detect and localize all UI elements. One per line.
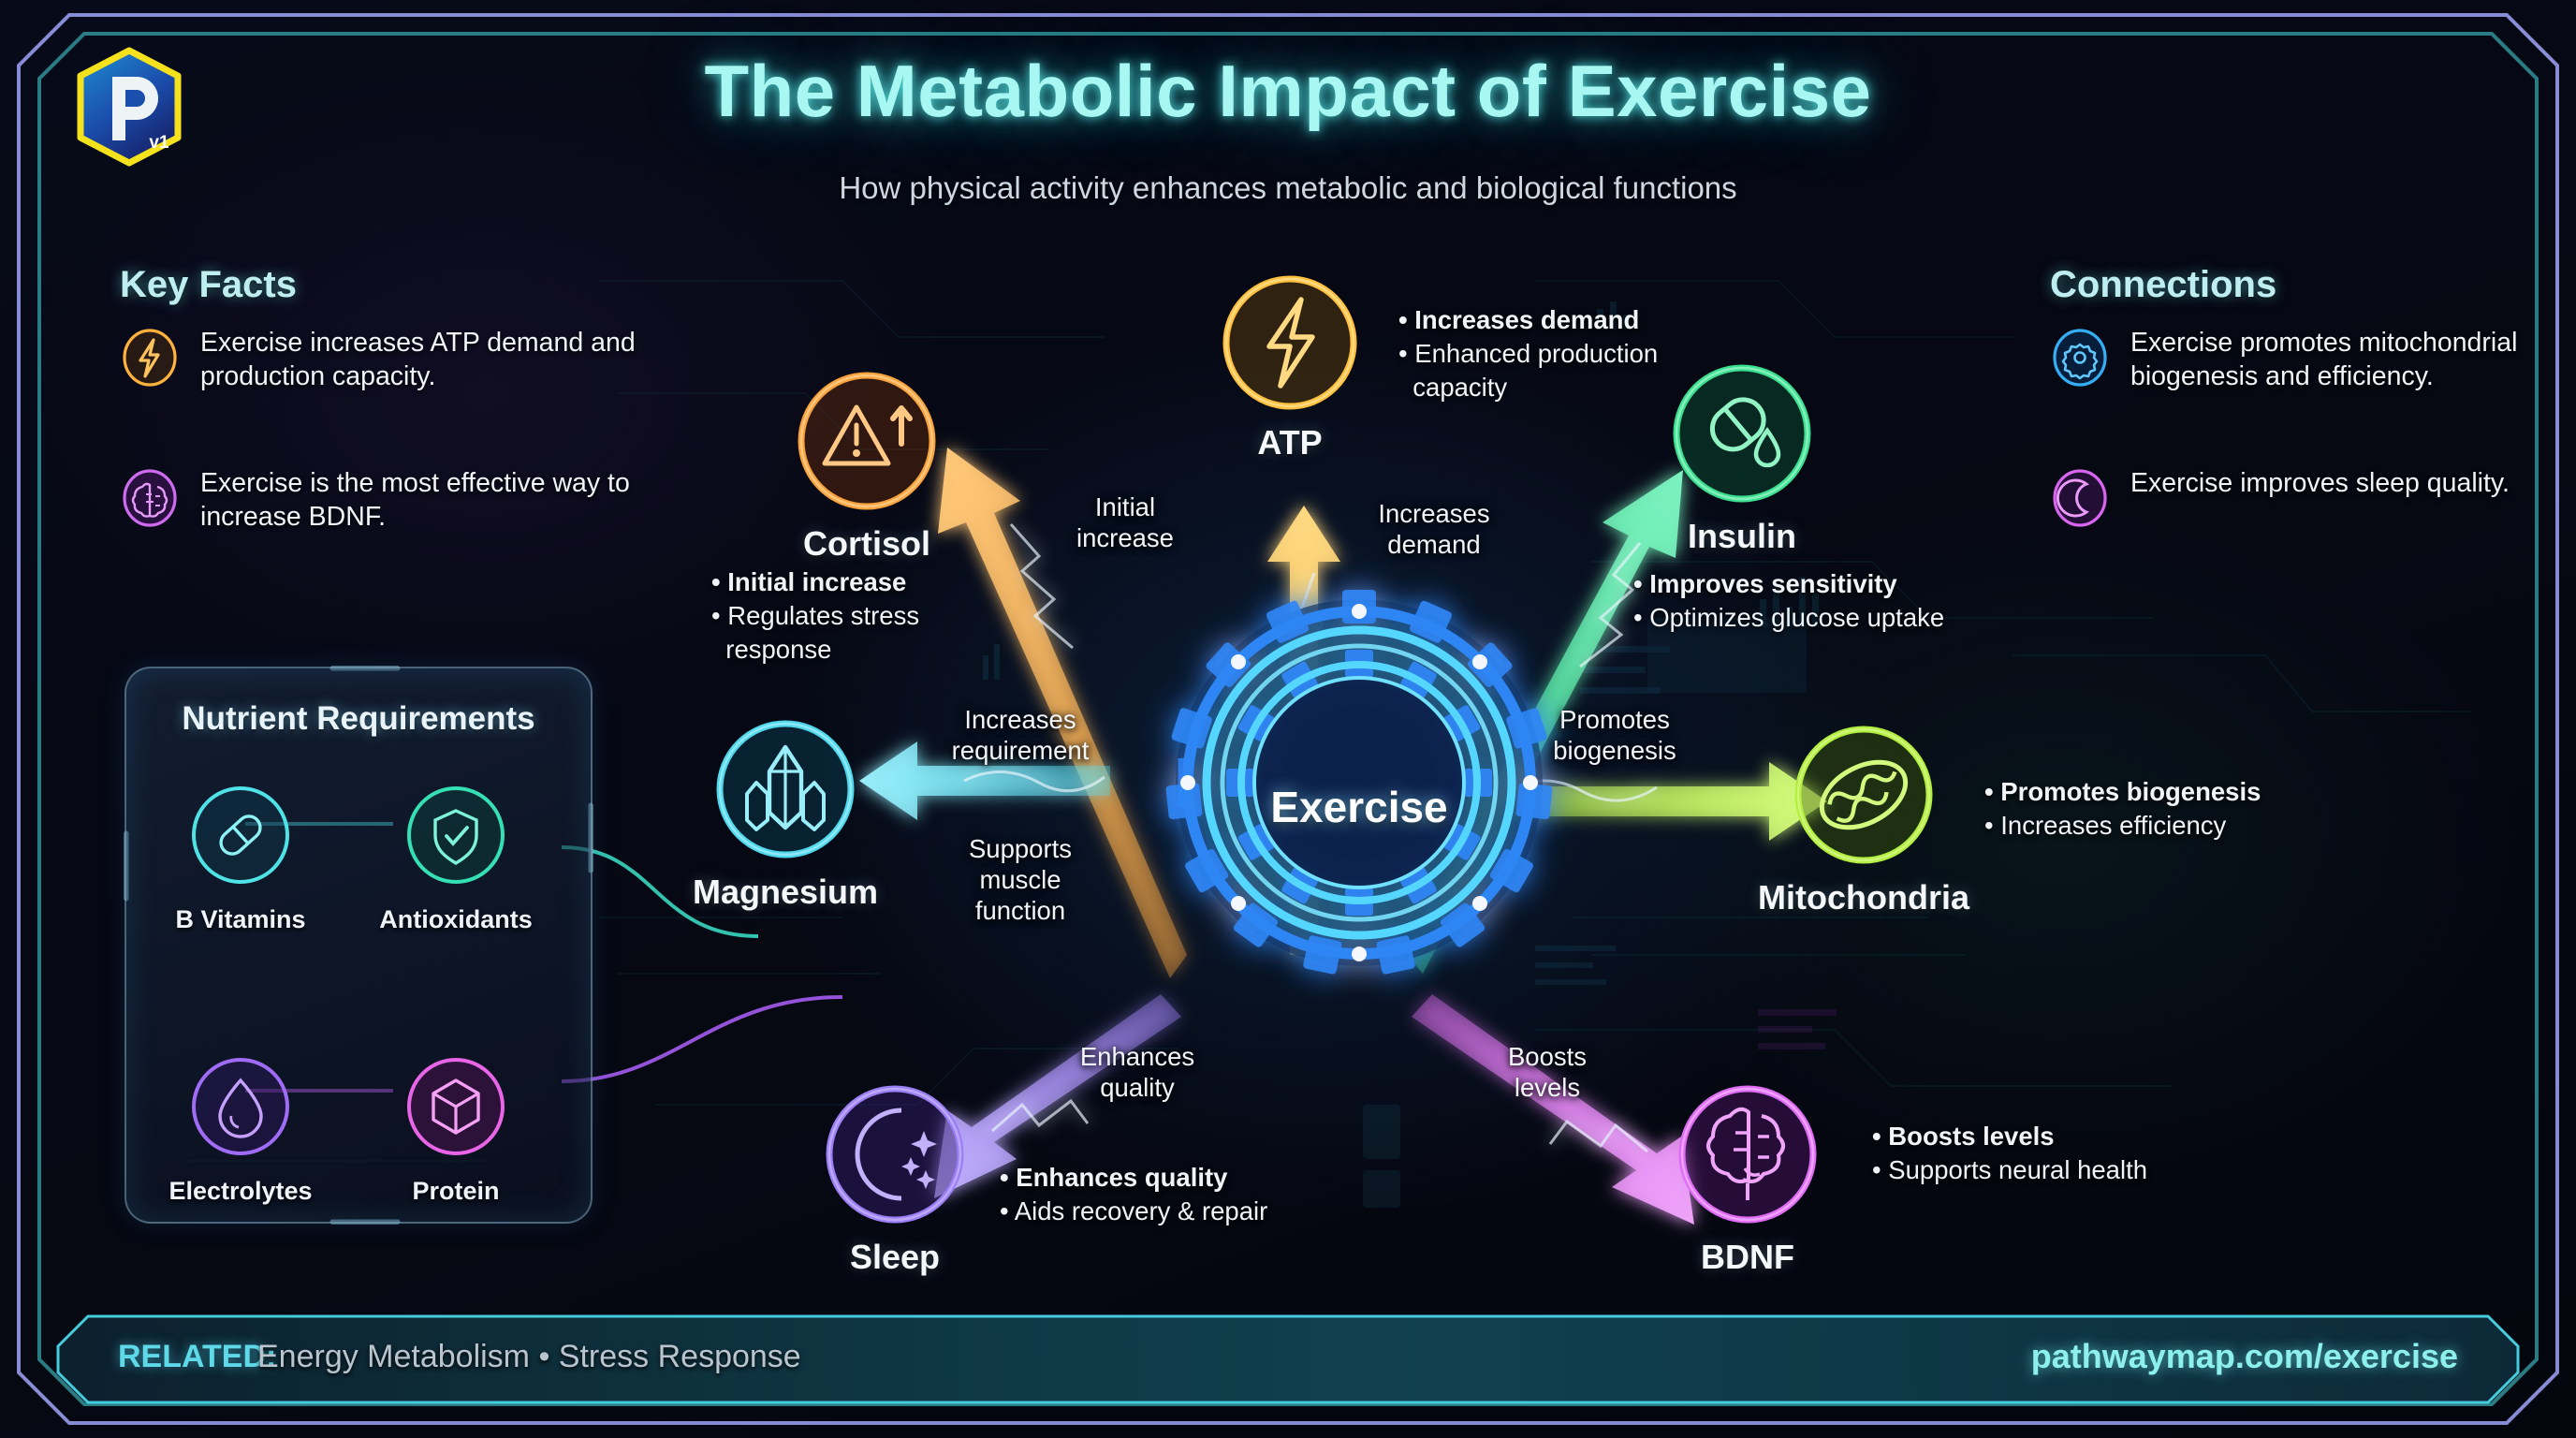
bullet: • Aids recovery & repair xyxy=(1000,1195,1267,1228)
bullet: • Promotes biogenesis xyxy=(1984,775,2261,809)
bullet: • Boosts levels xyxy=(1872,1120,2147,1153)
edge-label-mitochondria: Promotesbiogenesis xyxy=(1507,704,1722,766)
bullet: • Enhanced production xyxy=(1398,337,1658,371)
edge-label-magnesium-top: Increasesrequirement xyxy=(908,704,1133,766)
node-label: Cortisol xyxy=(763,524,971,564)
moon-stars-icon xyxy=(819,1078,971,1230)
node-sleep-bullets: • Enhances quality • Aids recovery & rep… xyxy=(1000,1161,1267,1228)
bullet: • Initial increase xyxy=(711,565,919,599)
node-mitochondria-bullets: • Promotes biogenesis • Increases effici… xyxy=(1984,775,2261,843)
bullet: capacity xyxy=(1398,371,1658,404)
node-label: BDNF xyxy=(1644,1238,1851,1277)
hub-label: Exercise xyxy=(1219,782,1500,832)
bullet: response xyxy=(711,633,919,667)
node-bdnf-bullets: • Boosts levels • Supports neural health xyxy=(1872,1120,2147,1187)
bullet: • Optimizes glucose uptake xyxy=(1633,601,1944,635)
bullet: • Supports neural health xyxy=(1872,1153,2147,1187)
node-label: Sleep xyxy=(791,1238,999,1277)
node-atp-bullets: • Increases demand • Enhanced production… xyxy=(1398,303,1658,404)
node-cortisol-bullets: • Initial increase • Regulates stress re… xyxy=(711,565,919,666)
brain-icon xyxy=(1672,1078,1823,1230)
footer-bar: RELATED: Energy Metabolism • Stress Resp… xyxy=(56,1314,2520,1404)
edge-label-magnesium-bottom: Supportsmusclefunction xyxy=(927,833,1114,926)
node-label: Mitochondria xyxy=(1724,878,2003,917)
warning-triangle-up-icon xyxy=(791,365,943,517)
bullet: • Increases demand xyxy=(1398,303,1658,337)
pill-droplet-icon xyxy=(1666,358,1818,509)
hub-and-arrows xyxy=(0,0,2576,1438)
edge-label-bdnf: Boostslevels xyxy=(1458,1041,1636,1103)
edge-label-cortisol: Initialincrease xyxy=(1041,492,1209,553)
node-insulin-bullets: • Improves sensitivity • Optimizes gluco… xyxy=(1633,567,1944,635)
node-label: ATP xyxy=(1178,423,1402,462)
crystal-icon xyxy=(710,713,861,865)
edge-label-sleep: Enhancesquality xyxy=(1048,1041,1226,1103)
bullet: • Increases efficiency xyxy=(1984,809,2261,843)
footer-related-items: Energy Metabolism • Stress Response xyxy=(257,1339,801,1375)
footer-url[interactable]: pathwaymap.com/exercise xyxy=(2031,1337,2458,1376)
mitochondria-icon xyxy=(1788,719,1939,871)
node-label: Insulin xyxy=(1642,517,1842,556)
footer-related-label: RELATED: xyxy=(118,1339,276,1375)
lightning-bolt-icon xyxy=(1217,270,1363,416)
bullet: • Regulates stress xyxy=(711,599,919,633)
arrow-to-bdnf xyxy=(1412,994,1694,1225)
edge-label-atp: Increasesdemand xyxy=(1340,498,1528,560)
node-label: Magnesium xyxy=(653,873,917,912)
bullet: • Enhances quality xyxy=(1000,1161,1267,1195)
bullet: • Improves sensitivity xyxy=(1633,567,1944,601)
